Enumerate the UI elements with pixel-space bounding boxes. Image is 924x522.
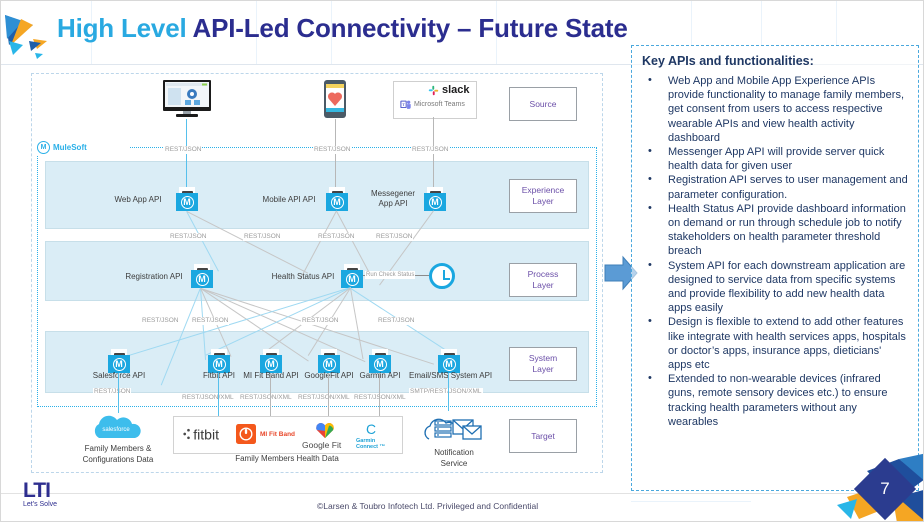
tag-experience-line2: Layer (532, 196, 553, 207)
slack-icon (428, 85, 439, 96)
lti-logo-tagline: Let's Solve (23, 501, 83, 508)
tag-process-layer: Process Layer (509, 263, 577, 297)
api-label-web-app: Web App API (105, 195, 171, 205)
wire-system-to-target (118, 373, 119, 413)
svg-text:fitbit: fitbit (193, 427, 219, 443)
tag-target-label: Target (531, 431, 555, 442)
wire-system-to-target (218, 373, 219, 419)
protocol-label: REST/JSON (317, 233, 355, 241)
api-node-fitbit[interactable]: M (208, 349, 230, 373)
api-node-messenger-app[interactable]: M (424, 187, 446, 211)
protocol-label: REST/JSON (141, 317, 179, 325)
salesforce-cloud-icon: salesforce (87, 413, 147, 443)
slide-canvas: High Level API-Led Connectivity – Future… (0, 0, 924, 522)
tag-process-line2: Layer (532, 280, 553, 291)
api-label-line2: App API (379, 199, 408, 208)
api-label-garmin: Garmin API (353, 371, 407, 381)
footer-copyright: ©Larsen & Toubro Infotech Ltd. Privilege… (317, 501, 538, 511)
protocol-label: REST/JSON (169, 233, 207, 241)
mulesoft-badge: M MuleSoft (37, 140, 129, 155)
wire-browser-to-webapp (186, 119, 187, 197)
list-item: Messenger App API will provide server qu… (642, 145, 908, 173)
protocol-label: REST/JSON/XML (181, 394, 235, 402)
target-label-line2: Configurations Data (83, 455, 154, 464)
wearables-brand-box: fitbit MI Fit Band Google Fit C Garmin C… (173, 416, 403, 454)
footer-divider (1, 493, 924, 494)
protocol-label: REST/JSON (411, 146, 449, 154)
chat-apps-source: slack T Microsoft Teams (393, 81, 477, 119)
slack-label: slack (442, 84, 470, 96)
page-title: High Level API-Led Connectivity – Future… (57, 13, 617, 53)
microsoft-teams-label: Microsoft Teams (414, 101, 465, 108)
bg-decor (836, 1, 837, 45)
api-node-mobile-api[interactable]: M (326, 187, 348, 211)
protocol-label: REST/JSON (191, 317, 229, 325)
mobile-phone-heart-icon (323, 79, 347, 119)
list-item: Health Status API provide dashboard info… (642, 202, 908, 259)
protocol-label: REST/JSON (313, 146, 351, 154)
protocol-label: SMTP/REST/JSON/XML (409, 388, 483, 396)
tag-process-line1: Process (528, 269, 559, 280)
target-label-notification: Notification Service (411, 447, 497, 469)
target-label-salesforce: Family Members & Configurations Data (63, 443, 173, 465)
panel-heading: Key APIs and functionalities: (642, 54, 908, 68)
tag-system-line2: Layer (532, 364, 553, 375)
wire-chat-to-messenger (433, 117, 434, 197)
svg-text:C: C (366, 421, 376, 437)
protocol-label: REST/JSON (375, 233, 413, 241)
protocol-label: REST/JSON (301, 317, 339, 325)
api-node-health-status[interactable]: M (341, 264, 363, 288)
protocol-label: REST/JSON (243, 233, 281, 241)
list-item: System API for each downstream applicati… (642, 259, 908, 316)
mulesoft-api-icon: M (191, 270, 213, 288)
protocol-label: REST/JSON (93, 388, 131, 396)
protocol-label: REST/JSON (164, 146, 202, 154)
wire-phone-to-mobileapi (335, 119, 336, 197)
mulesoft-api-icon: M (424, 193, 446, 211)
list-item: Web App and Mobile App Experience APIs p… (642, 74, 908, 145)
google-fit-label: Google Fit (302, 440, 341, 450)
tag-target: Target (509, 419, 577, 453)
api-node-registration[interactable]: M (191, 264, 213, 288)
clock-icon (429, 263, 455, 289)
protocol-label: REST/JSON (377, 317, 415, 325)
svg-text:salesforce: salesforce (102, 427, 130, 433)
lti-logo-word: LTI (23, 481, 83, 501)
wire-system-to-target (379, 373, 380, 419)
desktop-monitor-icon (161, 79, 213, 119)
tag-system-layer: System Layer (509, 347, 577, 381)
api-node-web-app[interactable]: M (176, 187, 198, 211)
microsoft-teams-icon: T (400, 99, 411, 110)
api-node-googlefit[interactable]: M (318, 349, 340, 373)
wire-system-to-target (328, 373, 329, 419)
api-node-email-sms[interactable]: M (438, 349, 460, 373)
tag-system-line1: System (529, 353, 557, 364)
garmin-connect-icon: C (362, 420, 380, 438)
mulesoft-api-icon: M (341, 270, 363, 288)
mulesoft-api-icon: M (176, 193, 198, 211)
target-label-line2: Service (441, 459, 468, 468)
api-label-registration: Registration API (119, 272, 189, 282)
mulesoft-api-icon: M (326, 193, 348, 211)
api-node-garmin[interactable]: M (369, 349, 391, 373)
target-label-line1: Notification (434, 448, 474, 457)
google-fit-icon (312, 420, 338, 440)
mulesoft-icon: M (37, 141, 50, 154)
lti-logo: LTI Let's Solve (23, 481, 83, 517)
target-label-health-data: Family Members Health Data (173, 453, 401, 464)
api-node-salesforce[interactable]: M (108, 349, 130, 373)
target-label-line1: Family Members & (85, 444, 152, 453)
tag-experience-line1: Experience (522, 185, 565, 196)
bg-decor (631, 501, 751, 502)
bg-decor (761, 1, 762, 45)
panel-bullet-list: Web App and Mobile App Experience APIs p… (642, 74, 908, 429)
api-label-messenger-app: Messegener App API (363, 189, 423, 209)
tag-source-label: Source (530, 99, 557, 110)
page-number-badge: 7 (863, 467, 907, 511)
protocol-label: REST/JSON/XML (297, 394, 351, 402)
api-label-line1: Messegener (371, 189, 415, 198)
api-label-googlefit: GoogleFit API (297, 371, 361, 381)
api-node-mi-fit-band[interactable]: M (260, 349, 282, 373)
wire-system-to-target (270, 373, 271, 419)
mulesoft-label: MuleSoft (53, 143, 87, 152)
api-label-mobile-api: Mobile API API (255, 195, 323, 205)
scheduler-label: Run Check Status (365, 271, 415, 279)
tag-source: Source (509, 87, 577, 121)
garmin-connect-label: Garmin Connect ™ (356, 438, 392, 450)
wire-system-to-target (448, 373, 449, 411)
list-item: Design is flexible to extend to add othe… (642, 315, 908, 372)
key-apis-panel: Key APIs and functionalities: Web App an… (631, 45, 919, 491)
api-label-email-sms: Email/SMS System API (409, 371, 489, 381)
tag-experience-layer: Experience Layer (509, 179, 577, 213)
page-title-rest: API-Led Connectivity – Future State (193, 13, 628, 43)
brand-logo-mark (3, 11, 55, 63)
page-number-text: 7 (880, 479, 889, 499)
api-label-health-status: Health Status API (266, 272, 340, 282)
mi-fit-band-label: MI Fit Band (260, 431, 295, 438)
page-title-highlight: High Level (57, 13, 193, 43)
list-item: Registration API serves to user manageme… (642, 173, 908, 201)
process-layer-band (45, 241, 589, 301)
list-item: Extended to non-wearable devices (infrar… (642, 372, 908, 429)
mi-fit-band-icon (236, 424, 256, 444)
bg-decor (691, 1, 692, 45)
cloud-mail-icon (419, 411, 489, 445)
api-label-salesforce: Salesforce API (81, 371, 157, 381)
protocol-label: REST/JSON/XML (239, 394, 293, 402)
